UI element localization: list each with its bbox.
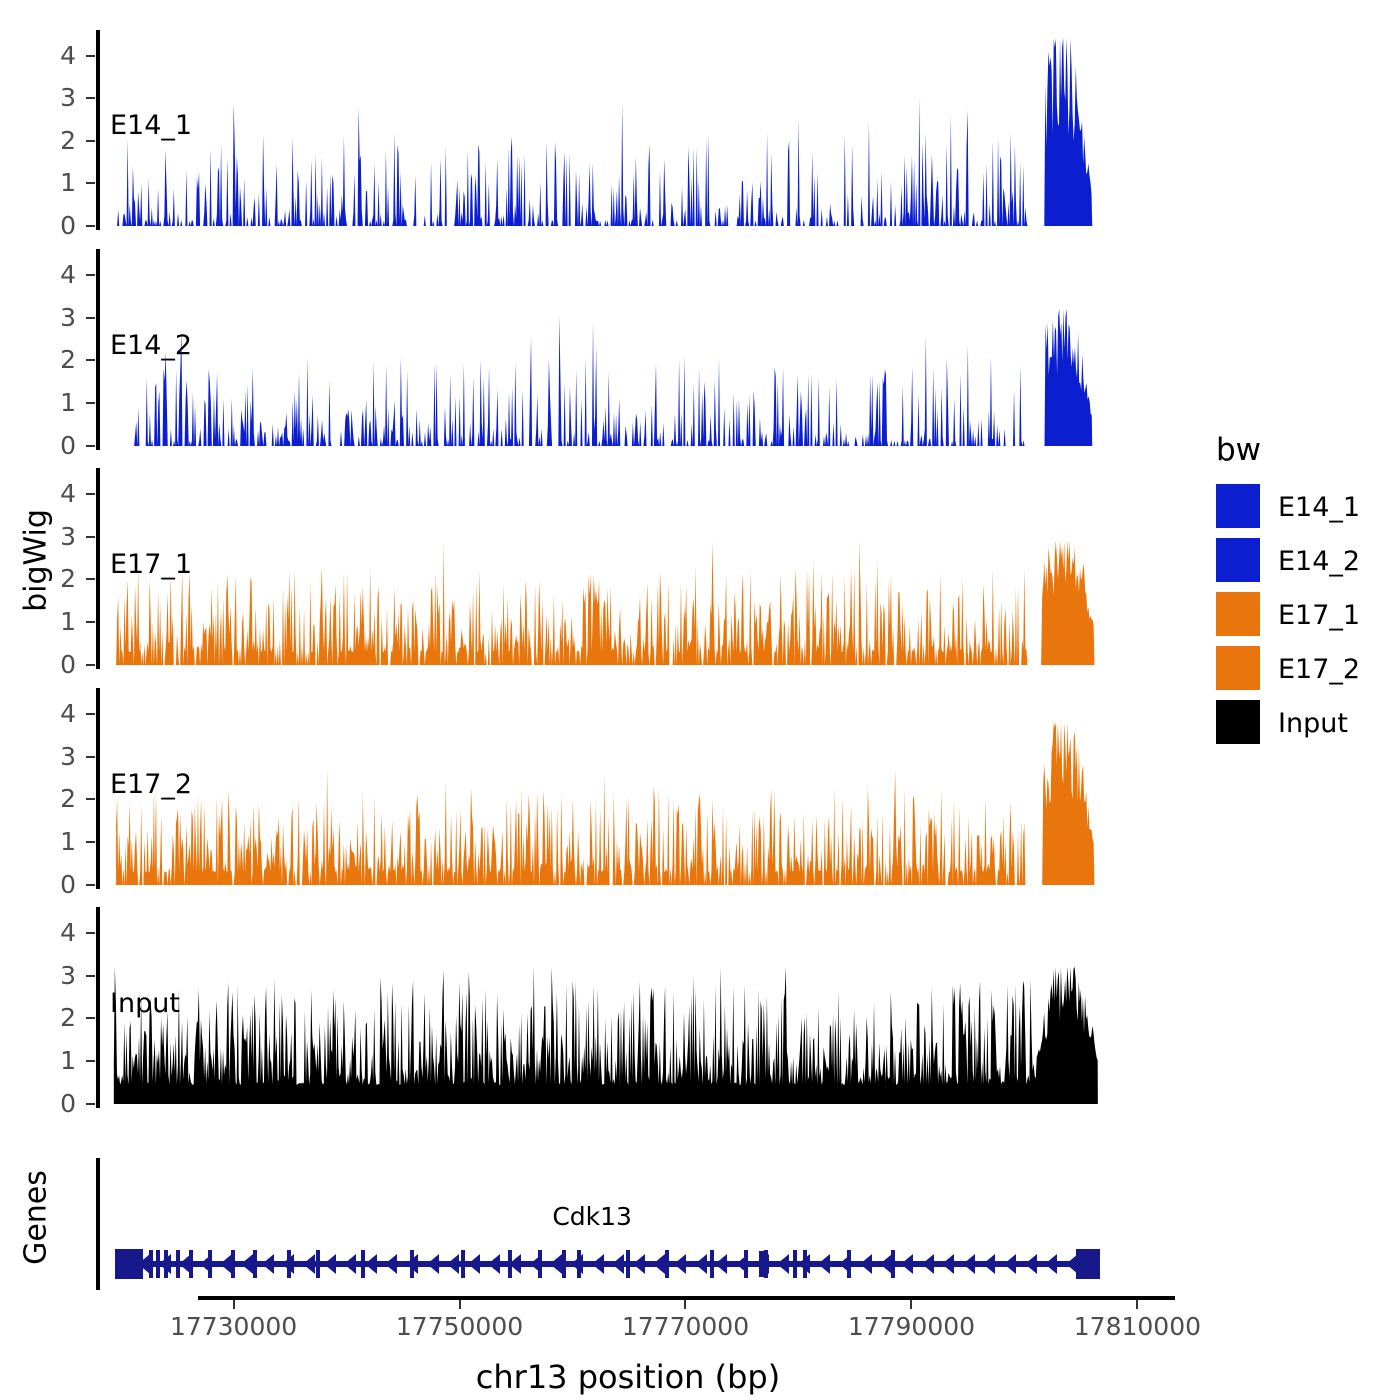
- y-tick-mark-E14_2-4: [86, 274, 95, 276]
- gene-strand-arrow: [592, 1254, 604, 1274]
- x-tick-label-17770000: 17770000: [595, 1314, 775, 1339]
- gene-exon: [253, 1250, 257, 1278]
- y-tick-mark-E14_1-3: [86, 97, 95, 99]
- x-tick-label-17790000: 17790000: [821, 1314, 1001, 1339]
- legend-key-E14_1[interactable]: [1216, 484, 1260, 528]
- legend-label-E14_2: E14_2: [1278, 546, 1360, 577]
- gene-strand-arrow: [963, 1254, 975, 1274]
- legend-key-E14_2[interactable]: [1216, 538, 1260, 582]
- gene-exon: [803, 1250, 807, 1278]
- gene-exon: [189, 1250, 193, 1278]
- gene-exon: [793, 1250, 797, 1278]
- gene-exon: [538, 1250, 542, 1278]
- gene-strand-arrow: [1004, 1254, 1016, 1274]
- gene-strand-arrow: [612, 1254, 624, 1274]
- y-tick-mark-E17_2-0: [86, 884, 95, 886]
- y-tick-mark-Input-0: [86, 1103, 95, 1105]
- gene-strand-arrow: [303, 1254, 315, 1274]
- legend-key-Input[interactable]: [1216, 700, 1260, 744]
- y-tick-label-E14_1-2: 2: [36, 128, 76, 153]
- gene-exon: [461, 1250, 465, 1278]
- y-tick-mark-E14_1-4: [86, 55, 95, 57]
- x-axis-title: chr13 position (bp): [128, 1358, 1128, 1396]
- gene-exon: [176, 1250, 180, 1278]
- gene-exon: [361, 1250, 365, 1278]
- gene-exon: [847, 1250, 851, 1278]
- gene-exon: [316, 1250, 320, 1278]
- y-tick-mark-E14_2-3: [86, 317, 95, 319]
- gene-strand-arrow: [777, 1254, 789, 1274]
- gene-strand-arrow: [488, 1254, 500, 1274]
- track-area-E17_1: [98, 468, 1160, 669]
- y-tick-label-E14_1-4: 4: [36, 43, 76, 68]
- y-tick-label-E17_2-3: 3: [36, 744, 76, 769]
- gene-exon: [665, 1250, 669, 1278]
- gene-exon: [410, 1250, 414, 1278]
- gene-strand-arrow: [653, 1254, 665, 1274]
- y-tick-label-E14_2-1: 1: [36, 390, 76, 415]
- y-tick-label-Input-2: 2: [36, 1005, 76, 1030]
- y-tick-mark-E14_1-0: [86, 225, 95, 227]
- y-tick-mark-E14_2-2: [86, 359, 95, 361]
- y-tick-mark-E17_1-0: [86, 664, 95, 666]
- y-tick-label-Input-0: 0: [36, 1091, 76, 1116]
- gene-strand-arrow: [324, 1254, 336, 1274]
- gene-exon-terminal-left: [115, 1249, 143, 1279]
- x-tick-mark-17790000: [910, 1300, 912, 1309]
- gene-exon: [149, 1250, 153, 1278]
- gene-strand-arrow: [715, 1254, 727, 1274]
- gene-strand-arrow: [818, 1254, 830, 1274]
- gene-strand-arrow: [447, 1254, 459, 1274]
- track-area-Input: [98, 907, 1160, 1108]
- x-tick-mark-17730000: [233, 1300, 235, 1309]
- y-tick-mark-E14_2-0: [86, 445, 95, 447]
- gene-exon: [891, 1250, 895, 1278]
- x-tick-label-17750000: 17750000: [370, 1314, 550, 1339]
- y-tick-mark-E17_1-3: [86, 536, 95, 538]
- y-tick-label-E17_2-2: 2: [36, 786, 76, 811]
- legend-key-E17_2[interactable]: [1216, 646, 1260, 690]
- gene-exon: [156, 1250, 160, 1278]
- y-tick-mark-E14_2-1: [86, 402, 95, 404]
- gene-strand-arrow: [674, 1254, 686, 1274]
- y-tick-label-E14_1-0: 0: [36, 213, 76, 238]
- y-tick-label-E17_1-0: 0: [36, 652, 76, 677]
- y-tick-mark-E17_1-2: [86, 578, 95, 580]
- y-tick-label-E17_2-1: 1: [36, 829, 76, 854]
- track-area-E17_2: [98, 688, 1160, 889]
- y-tick-mark-Input-2: [86, 1017, 95, 1019]
- y-tick-label-Input-1: 1: [36, 1048, 76, 1073]
- genome-browser-figure: 01234E14_101234E14_201234E17_101234E17_2…: [0, 0, 1400, 1400]
- gene-strand-arrow: [241, 1254, 253, 1274]
- gene-strand-arrow: [942, 1254, 954, 1274]
- legend-label-Input: Input: [1278, 708, 1348, 739]
- y-tick-label-Input-3: 3: [36, 963, 76, 988]
- y-tick-label-E14_2-3: 3: [36, 305, 76, 330]
- y-tick-mark-E17_1-4: [86, 493, 95, 495]
- gene-exon-large: [759, 1251, 768, 1277]
- y-tick-label-E17_2-4: 4: [36, 701, 76, 726]
- legend-key-E17_1[interactable]: [1216, 592, 1260, 636]
- gene-exon: [208, 1250, 212, 1278]
- gene-exon: [710, 1250, 714, 1278]
- track-area-E14_1: [98, 30, 1160, 230]
- gene-exon: [508, 1250, 512, 1278]
- strip-label-bigwig: bigWig: [19, 481, 54, 641]
- y-tick-mark-E14_1-1: [86, 182, 95, 184]
- y-tick-label-E14_1-1: 1: [36, 170, 76, 195]
- gene-exon: [231, 1250, 235, 1278]
- y-tick-label-E17_2-0: 0: [36, 872, 76, 897]
- x-axis-line: [198, 1296, 1175, 1300]
- legend-label-E17_1: E17_1: [1278, 600, 1360, 631]
- y-tick-mark-E17_2-3: [86, 756, 95, 758]
- gene-strand-arrow: [1025, 1254, 1037, 1274]
- y-tick-mark-E17_1-1: [86, 621, 95, 623]
- gene-strand-arrow: [344, 1254, 356, 1274]
- gene-exon: [577, 1250, 581, 1278]
- gene-strand-arrow: [633, 1254, 645, 1274]
- y-tick-label-E14_1-3: 3: [36, 85, 76, 110]
- gene-strand-arrow: [550, 1254, 562, 1274]
- gene-strand-arrow: [427, 1254, 439, 1274]
- y-tick-mark-E17_2-2: [86, 798, 95, 800]
- gene-exon: [562, 1250, 566, 1278]
- gene-strand-arrow: [385, 1254, 397, 1274]
- gene-strand-arrow: [860, 1254, 872, 1274]
- y-tick-mark-E17_2-1: [86, 841, 95, 843]
- y-tick-label-E14_2-0: 0: [36, 433, 76, 458]
- legend-label-E17_2: E17_2: [1278, 654, 1360, 685]
- legend-title: bw: [1216, 432, 1261, 468]
- gene-strand-arrow: [983, 1254, 995, 1274]
- y-tick-mark-E14_1-2: [86, 140, 95, 142]
- gene-strand-arrow: [262, 1254, 274, 1274]
- gene-exon: [164, 1250, 168, 1278]
- gene-strand-arrow: [468, 1254, 480, 1274]
- gene-strand-arrow: [695, 1254, 707, 1274]
- y-tick-mark-Input-1: [86, 1060, 95, 1062]
- gene-exon: [744, 1250, 748, 1278]
- legend-label-E14_1: E14_1: [1278, 492, 1360, 523]
- y-tick-mark-E17_2-4: [86, 713, 95, 715]
- y-axis-line-genes: [96, 1158, 100, 1290]
- gene-strand-arrow: [901, 1254, 913, 1274]
- y-tick-label-E14_2-2: 2: [36, 347, 76, 372]
- y-tick-mark-Input-4: [86, 932, 95, 934]
- gene-exon: [626, 1250, 630, 1278]
- x-tick-mark-17770000: [684, 1300, 686, 1309]
- x-tick-label-17730000: 17730000: [144, 1314, 324, 1339]
- track-area-E14_2: [98, 249, 1160, 450]
- y-tick-mark-Input-3: [86, 975, 95, 977]
- gene-exon-terminal-right: [1076, 1249, 1100, 1279]
- y-tick-label-Input-4: 4: [36, 920, 76, 945]
- x-tick-mark-17750000: [459, 1300, 461, 1309]
- gene-exon: [287, 1250, 291, 1278]
- strip-label-genes: Genes: [19, 1138, 54, 1298]
- gene-strand-arrow: [1045, 1254, 1057, 1274]
- gene-strand-arrow: [922, 1254, 934, 1274]
- x-tick-label-17810000: 17810000: [1047, 1314, 1227, 1339]
- x-tick-mark-17810000: [1136, 1300, 1138, 1309]
- y-tick-label-E14_2-4: 4: [36, 262, 76, 287]
- gene-label-Cdk13: Cdk13: [552, 1202, 632, 1231]
- gene-strand-arrow: [365, 1254, 377, 1274]
